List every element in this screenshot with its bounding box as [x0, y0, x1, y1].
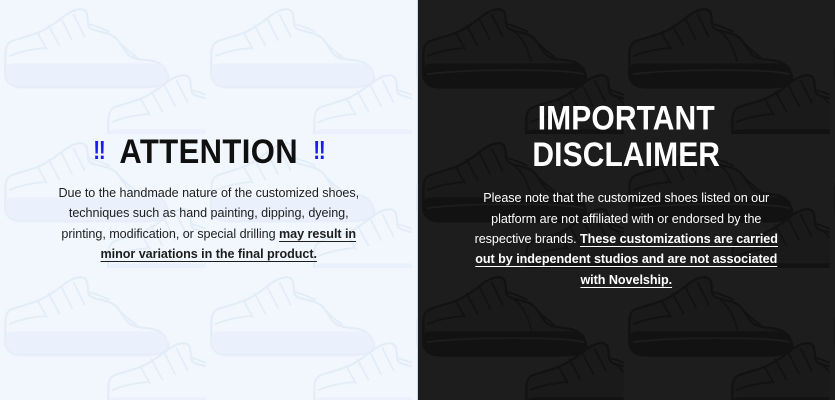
attention-body: Due to the handmade nature of the custom… [56, 183, 361, 265]
attention-title-text: ATTENTION [119, 134, 298, 168]
disclaimer-panel: IMPORTANT DISCLAIMER Please note that th… [418, 0, 835, 400]
disclaimer-content: IMPORTANT DISCLAIMER Please note that th… [418, 110, 835, 290]
exclamation-right-icon: !! [313, 138, 324, 164]
disclaimer-title-line2: DISCLAIMER [418, 138, 835, 175]
panel-divider [417, 0, 418, 400]
disclaimer-title: IMPORTANT DISCLAIMER [418, 101, 835, 174]
customization-notice-banner: !! ATTENTION !! Due to the handmade natu… [0, 0, 835, 400]
attention-panel: !! ATTENTION !! Due to the handmade natu… [0, 0, 418, 400]
disclaimer-title-line1: IMPORTANT [418, 101, 835, 138]
disclaimer-body: Please note that the customized shoes li… [465, 188, 787, 290]
page-title: !! ATTENTION !! [0, 136, 418, 167]
attention-content: !! ATTENTION !! Due to the handmade natu… [0, 136, 418, 265]
exclamation-left-icon: !! [93, 138, 104, 164]
